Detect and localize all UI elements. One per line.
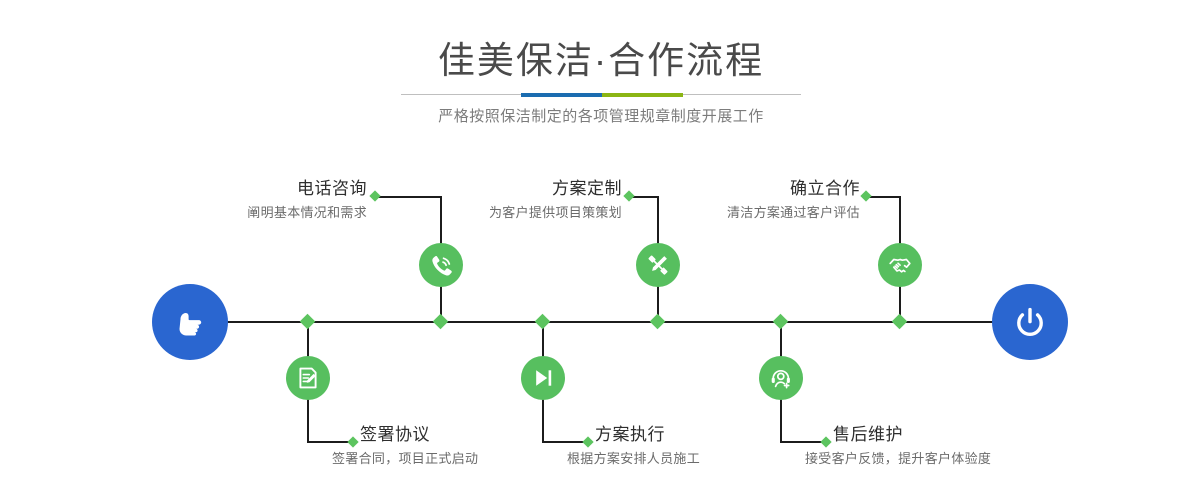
pencil-design-icon bbox=[645, 252, 671, 278]
axis-node-step-4 bbox=[535, 314, 551, 330]
contract-document-icon bbox=[295, 365, 321, 391]
pointing-hand-icon bbox=[169, 301, 211, 343]
axis-node-step-6 bbox=[773, 314, 789, 330]
step-title-step-1: 电话咨询 bbox=[105, 178, 367, 200]
power-button-icon bbox=[1009, 301, 1051, 343]
step-label-step-1: 电话咨询 阐明基本情况和需求 bbox=[105, 178, 367, 224]
connector-arm-step-1 bbox=[375, 196, 441, 198]
step-icon-step-2 bbox=[286, 356, 330, 400]
step-desc-step-1: 阐明基本情况和需求 bbox=[105, 202, 367, 224]
step-title-step-6: 售后维护 bbox=[833, 424, 991, 446]
step-label-step-6: 售后维护 接受客户反馈，提升客户体验度 bbox=[833, 424, 991, 470]
axis-node-step-5 bbox=[892, 314, 908, 330]
step-label-step-3: 方案定制 为客户提供项目策策划 bbox=[360, 178, 622, 224]
label-node-step-5 bbox=[860, 190, 871, 201]
timeline-diagram: 电话咨询 阐明基本情况和需求 签署协议 签署合同，项目正式启动 bbox=[0, 150, 1202, 502]
step-title-step-2: 签署协议 bbox=[360, 424, 478, 446]
step-icon-step-1 bbox=[419, 243, 463, 287]
label-node-step-2 bbox=[347, 436, 358, 447]
step-label-step-4: 方案执行 根据方案安排人员施工 bbox=[595, 424, 700, 470]
customer-support-icon bbox=[768, 365, 794, 391]
step-desc-step-4: 根据方案安排人员施工 bbox=[567, 448, 700, 470]
connector-arm-step-2 bbox=[307, 441, 353, 443]
process-flow-infographic: 佳美保洁·合作流程 严格按照保洁制定的各项管理规章制度开展工作 bbox=[0, 0, 1202, 502]
step-desc-step-5: 清洁方案通过客户评估 bbox=[598, 202, 860, 224]
page-title: 佳美保洁·合作流程 bbox=[0, 38, 1202, 84]
step-icon-step-5 bbox=[878, 243, 922, 287]
divider-segment-blue bbox=[521, 93, 602, 97]
timeline-start-node bbox=[152, 284, 228, 360]
step-desc-step-6: 接受客户反馈，提升客户体验度 bbox=[805, 448, 991, 470]
connector-arm-step-4 bbox=[542, 441, 588, 443]
handshake-icon bbox=[887, 252, 913, 278]
step-label-step-2: 签署协议 签署合同，项目正式启动 bbox=[360, 424, 478, 470]
play-execute-icon bbox=[530, 365, 556, 391]
axis-node-step-2 bbox=[300, 314, 316, 330]
axis-node-step-3 bbox=[650, 314, 666, 330]
step-desc-step-3: 为客户提供项目策策划 bbox=[360, 202, 622, 224]
label-node-step-6 bbox=[820, 436, 831, 447]
label-node-step-4 bbox=[582, 436, 593, 447]
phone-call-icon bbox=[428, 252, 454, 278]
step-icon-step-4 bbox=[521, 356, 565, 400]
title-divider bbox=[401, 93, 801, 96]
connector-arm-step-6 bbox=[780, 441, 826, 443]
timeline-end-node bbox=[992, 284, 1068, 360]
divider-segment-green bbox=[602, 93, 683, 97]
timeline-axis bbox=[155, 321, 1045, 323]
step-icon-step-3 bbox=[636, 243, 680, 287]
step-label-step-5: 确立合作 清洁方案通过客户评估 bbox=[598, 178, 860, 224]
step-title-step-4: 方案执行 bbox=[595, 424, 700, 446]
page-subtitle: 严格按照保洁制定的各项管理规章制度开展工作 bbox=[0, 105, 1202, 129]
step-icon-step-6 bbox=[759, 356, 803, 400]
page-header: 佳美保洁·合作流程 严格按照保洁制定的各项管理规章制度开展工作 bbox=[0, 0, 1202, 150]
step-desc-step-2: 签署合同，项目正式启动 bbox=[332, 448, 478, 470]
axis-node-step-1 bbox=[433, 314, 449, 330]
